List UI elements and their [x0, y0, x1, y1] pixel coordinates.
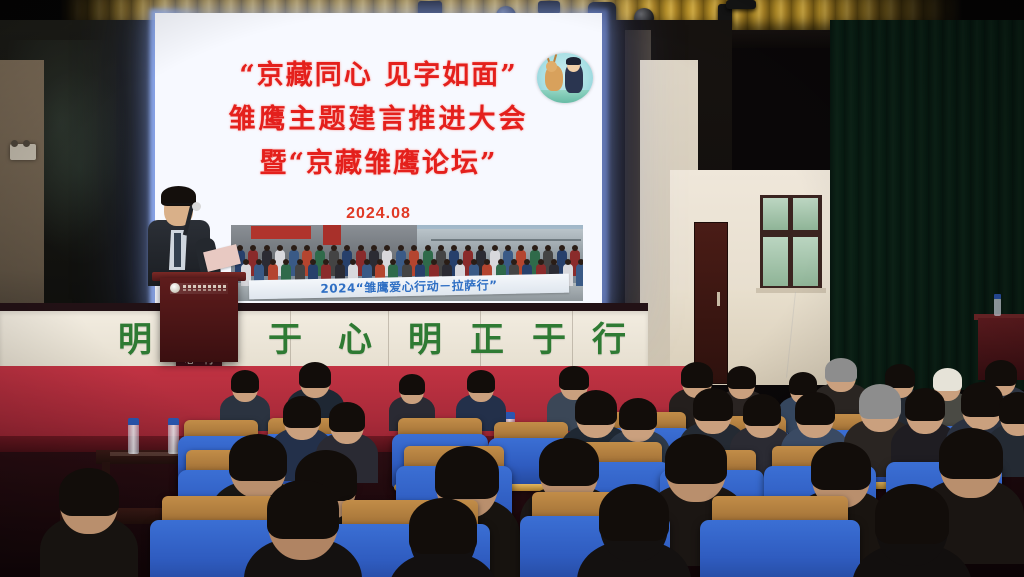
- photo-person-head: [297, 259, 303, 265]
- stage-light-7: [726, 0, 756, 9]
- photo-person-head: [358, 245, 364, 251]
- audience-member-hair: [939, 428, 1003, 479]
- backdrop-character: 明: [118, 321, 152, 359]
- photo-red-pillar: [323, 225, 341, 245]
- photo-person-head: [565, 259, 571, 265]
- photo-person-head: [431, 259, 437, 265]
- slide-title-line3: 暨“京藏雏鹰论坛”: [155, 145, 602, 183]
- backdrop-character: 心: [338, 321, 372, 359]
- audience-member-hair: [885, 364, 915, 388]
- photo-person-head: [337, 259, 343, 265]
- audience-member-hair: [743, 394, 781, 426]
- window-mullion-vertical: [789, 198, 793, 287]
- photo-person-head: [270, 259, 276, 265]
- audience-member-hair: [693, 388, 733, 421]
- photo-person-head: [492, 245, 498, 251]
- photo-person-head: [377, 259, 383, 265]
- audience-member-hair: [875, 484, 949, 544]
- auditorium-seat[interactable]: [700, 520, 860, 577]
- audience-member-hair: [825, 358, 857, 382]
- photo-person-head: [498, 259, 504, 265]
- photo-person-head: [304, 245, 310, 251]
- photo-person-head: [425, 245, 431, 251]
- speaker-tie: [174, 233, 181, 267]
- slide-date: 2024.08: [155, 205, 602, 223]
- audience-member-hair: [665, 434, 727, 484]
- emblem-child-hair: [566, 57, 581, 65]
- audience-member-hair: [795, 392, 835, 425]
- photo-person-head: [538, 259, 544, 265]
- backdrop-character: 正: [470, 321, 504, 359]
- photo-person-head: [237, 245, 243, 251]
- photo-person-head: [438, 245, 444, 251]
- conference-photo: “京藏同心 见字如面” 雏鹰主题建言推进大会 暨“京藏雏鹰论坛” 2024.08: [0, 0, 1024, 577]
- photo-person-head: [505, 245, 511, 251]
- audience-member-hair: [985, 360, 1017, 386]
- photo-person-head: [243, 259, 249, 265]
- audience-member-hair: [559, 366, 589, 390]
- audience-member-hair: [727, 366, 756, 389]
- backdrop-calligraphy: 明于心明正于行: [0, 311, 648, 369]
- photo-person-head: [310, 259, 316, 265]
- audience-member-hair: [599, 484, 669, 541]
- audience-member-hair: [59, 468, 119, 516]
- audience-member-hair: [859, 384, 901, 419]
- audience-member-hair: [961, 382, 1003, 417]
- water-bottle-cap: [994, 294, 1001, 299]
- audience-member-hair: [329, 402, 365, 432]
- photo-person-head: [331, 245, 337, 251]
- audience-member-hair: [231, 370, 259, 393]
- photo-person-head: [364, 259, 370, 265]
- seat-back: [700, 520, 860, 577]
- water-bottle: [128, 424, 139, 454]
- photo-person-head: [559, 245, 565, 251]
- photo-person-head: [511, 259, 517, 265]
- antelope-and-child-emblem-icon: [537, 53, 593, 103]
- wall-fixture-icon: [10, 144, 36, 160]
- window-mullion-horizontal: [763, 233, 819, 237]
- microphone-icon: [192, 202, 201, 211]
- photo-person-head: [532, 245, 538, 251]
- photo-person-head: [371, 245, 377, 251]
- backdrop-character: 于: [532, 321, 566, 359]
- window-sill: [756, 288, 826, 293]
- photo-person: [576, 264, 583, 286]
- photo-person-head: [465, 245, 471, 251]
- audience-member-hair: [933, 368, 962, 391]
- photo-person-head: [444, 259, 450, 265]
- audience-member-hair: [811, 442, 871, 490]
- audience-member-hair: [299, 362, 331, 388]
- photo-person-head: [398, 245, 404, 251]
- photo-banner-text: 2024“雏鹰爱心行动－拉萨行”: [320, 276, 498, 297]
- side-door[interactable]: [694, 222, 728, 384]
- backdrop-character: 明: [408, 321, 442, 359]
- photo-person-head: [572, 245, 578, 251]
- photo-red-banner: [251, 226, 311, 239]
- audience-member-hair: [681, 362, 713, 388]
- emblem-antelope-head: [546, 61, 557, 72]
- photo-person-head: [291, 245, 297, 251]
- audience-member-hair: [619, 398, 657, 430]
- photo-person-head: [578, 259, 583, 265]
- water-bottle-cap: [168, 418, 179, 425]
- audience-member-hair: [229, 434, 287, 481]
- water-bottle-cap: [128, 418, 139, 425]
- audience-member-hair: [467, 370, 495, 393]
- audience-member-hair: [435, 446, 499, 499]
- slide-title-line2: 雏鹰主题建言推进大会: [155, 101, 602, 139]
- group-photo: 2024“雏鹰爱心行动－拉萨行”: [231, 225, 583, 301]
- audience-member-hair: [267, 480, 339, 539]
- emblem-grass: [537, 90, 593, 103]
- slide-title-line1: “京藏同心 见字如面”: [155, 59, 602, 93]
- door-handle-icon[interactable]: [717, 292, 720, 306]
- photo-person-head: [264, 245, 270, 251]
- backdrop-character: 于: [268, 321, 302, 359]
- podium-emblem-icon: [170, 283, 228, 294]
- audience-member-hair: [409, 498, 477, 554]
- audience-member-hair: [399, 374, 425, 395]
- audience-member-hair: [539, 438, 599, 486]
- audience-member-hair: [999, 392, 1024, 424]
- photo-person-head: [404, 259, 410, 265]
- audience-member-hair: [575, 390, 617, 425]
- audience-member-hair: [905, 388, 945, 421]
- photo-railing: [431, 239, 581, 241]
- audience-member-hair: [283, 396, 321, 428]
- backdrop-character: 行: [592, 321, 626, 359]
- water-bottle: [994, 298, 1001, 316]
- photo-person-head: [471, 259, 477, 265]
